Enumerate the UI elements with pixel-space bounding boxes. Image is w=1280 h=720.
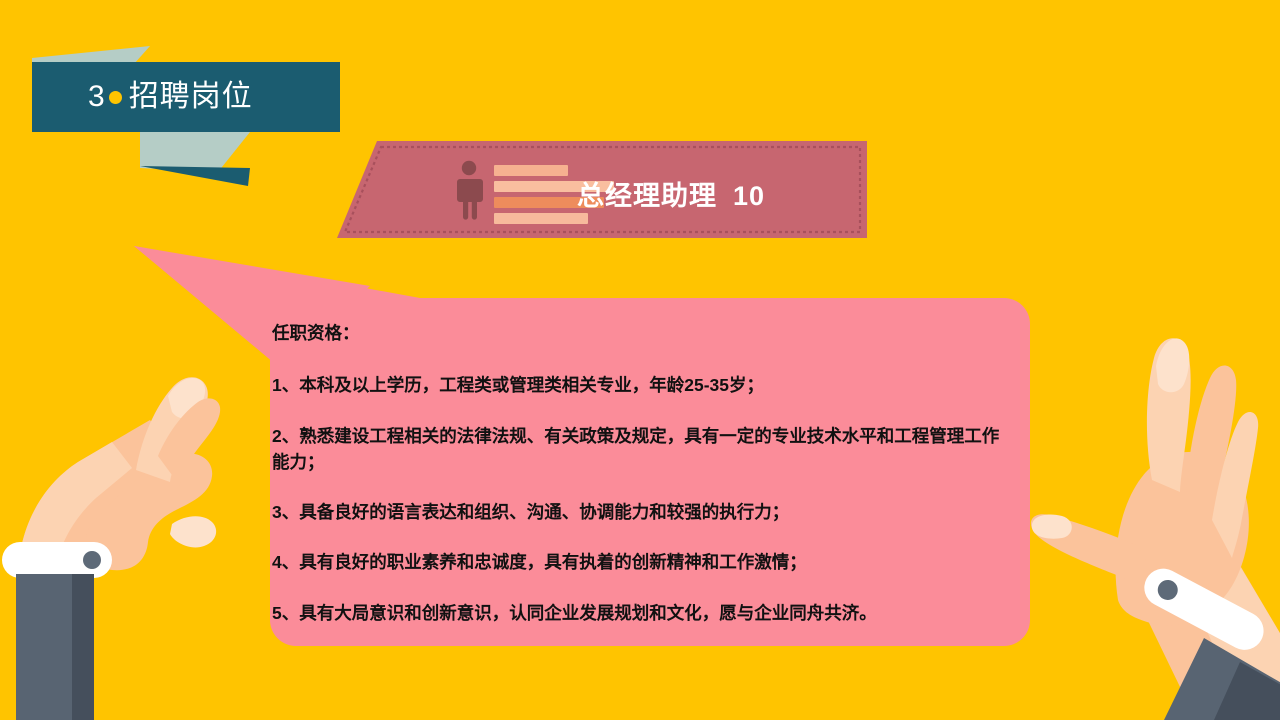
right-hand-illustration	[1000, 270, 1280, 720]
position-count: 10	[733, 181, 765, 211]
requirement-item: 4、具有良好的职业素养和忠诚度，具有执着的创新精神和工作激情；	[272, 549, 1002, 575]
section-title-text: 招聘岗位	[129, 80, 253, 113]
requirements-text: 任职资格： 1、本科及以上学历，工程类或管理类相关专业，年龄25-35岁； 2、…	[272, 320, 1002, 626]
requirement-item: 5、具有大局意识和创新意识，认同企业发展规划和文化，愿与企业同舟共济。	[272, 600, 1002, 626]
position-title: 总经理助理	[577, 181, 717, 211]
bar-item	[494, 213, 588, 224]
ribbon-tail-triangle	[140, 166, 250, 186]
left-hand-illustration	[0, 270, 300, 720]
ribbon-fold-bottom	[140, 132, 250, 172]
requirement-item: 3、具备良好的语言表达和组织、沟通、协调能力和较强的执行力；	[272, 499, 1002, 525]
requirements-heading: 任职资格：	[272, 320, 1002, 346]
person-icon	[453, 160, 485, 220]
position-banner: 总经理助理10	[337, 141, 867, 238]
section-ribbon: 3招聘岗位	[0, 20, 360, 190]
section-ribbon-title: 3招聘岗位	[88, 82, 253, 112]
requirement-item: 2、熟悉建设工程相关的法律法规、有关政策及规定，具有一定的专业技术水平和工程管理…	[272, 423, 1002, 476]
position-title-group: 总经理助理10	[577, 174, 765, 213]
section-number: 3	[88, 80, 106, 113]
slide-canvas: 3招聘岗位 总经理助理10 任职资格： 1、本科及	[0, 0, 1280, 720]
bar-item	[494, 165, 568, 176]
bullet-dot-icon	[109, 91, 122, 104]
left-cuff	[2, 542, 112, 578]
requirement-item: 1、本科及以上学历，工程类或管理类相关专业，年龄25-35岁；	[272, 372, 1002, 398]
